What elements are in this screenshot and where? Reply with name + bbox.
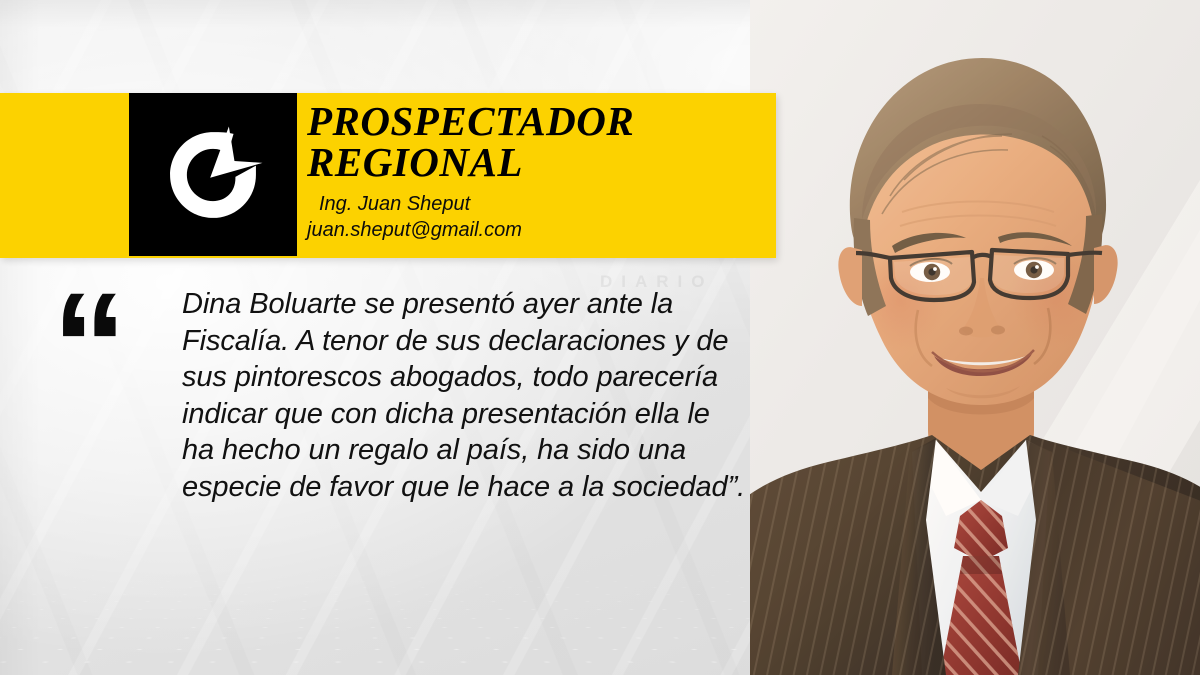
poster-canvas: DIARIO [0, 0, 1200, 675]
quote-text: Dina Boluarte se presentó ayer ante la F… [182, 286, 747, 505]
portrait-photo [750, 0, 1200, 675]
header-banner: PROSPECTADOR REGIONAL Ing. Juan Sheput j… [0, 93, 776, 258]
compass-arrow-logo-icon [157, 119, 269, 231]
byline-author: Ing. Juan Sheput [307, 192, 767, 217]
byline-email: juan.sheput@gmail.com [307, 217, 767, 243]
page-title: PROSPECTADOR REGIONAL [307, 95, 767, 183]
logo-box [129, 93, 297, 256]
portrait-illustration [750, 0, 1200, 675]
brand-block: PROSPECTADOR REGIONAL Ing. Juan Sheput j… [307, 95, 767, 243]
quote-open-mark-icon: “ [52, 270, 121, 420]
byline: Ing. Juan Sheput juan.sheput@gmail.com [307, 192, 767, 243]
